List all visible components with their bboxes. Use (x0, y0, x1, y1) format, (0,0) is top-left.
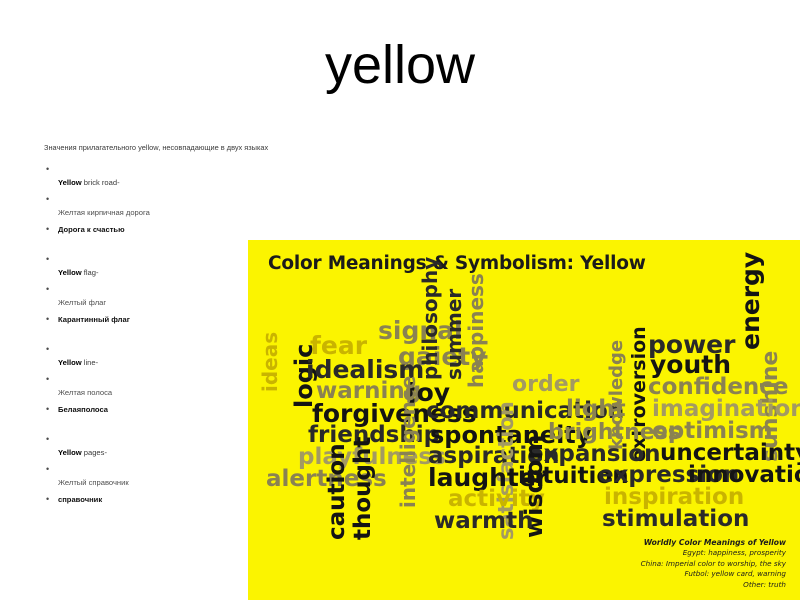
bullet-dot-icon: • (44, 314, 58, 325)
bullet-dot-icon: • (44, 464, 58, 475)
bullet-label: Желтая полоса (58, 374, 259, 398)
bullet-keyword: Yellow (58, 358, 82, 367)
bullet-item: •справочник (44, 494, 259, 524)
bullet-label: Белаяполоса (58, 404, 259, 415)
bullet-item: •Желтая полоса (44, 374, 259, 404)
bullet-label: Желтая кирпичная дорога (58, 194, 259, 218)
wordcloud-word: stimulation (602, 508, 749, 531)
wordcloud-word: summer (444, 289, 464, 380)
bullet-keyword: Yellow (58, 448, 82, 457)
bullet-dot-icon: • (44, 374, 58, 385)
wordcloud-word: energy (738, 252, 763, 350)
bullet-dot-icon: • (44, 284, 58, 295)
bullet-dot-icon: • (44, 344, 58, 355)
bullet-item: •Желтый флаг (44, 284, 259, 314)
bullet-label: Желтый справочник (58, 464, 259, 488)
bullet-keyword: Yellow (58, 268, 82, 277)
wordcloud-word: warmth (434, 510, 533, 533)
wordcloud-image: Color Meanings & Symbolism: Yellow ideas… (248, 240, 800, 600)
bullet-label: справочник (58, 494, 259, 505)
footer-line: Other: truth (641, 580, 786, 590)
wordcloud-word: ideas (260, 332, 280, 392)
bullet-item: •Дорога к счастью (44, 224, 259, 254)
bullet-item: •Yellow line- (44, 344, 259, 374)
bullet-dot-icon: • (44, 224, 58, 235)
bullet-dot-icon: • (44, 404, 58, 415)
bullet-label: Карантинный флаг (58, 314, 259, 325)
wordcloud-footer: Worldly Color Meanings of Yellow Egypt: … (641, 537, 786, 590)
bullet-label: Желтый флаг (58, 284, 259, 308)
bullet-dot-icon: • (44, 164, 58, 175)
footer-lines: Egypt: happiness, prosperityChina: Imper… (641, 548, 786, 590)
bullet-label: Yellow brick road- (58, 164, 259, 188)
footer-heading: Worldly Color Meanings of Yellow (641, 537, 786, 548)
intro-paragraph: Значения прилагательного yellow, несовпа… (44, 143, 259, 153)
footer-line: China: Imperial color to worship, the sk… (641, 559, 786, 569)
bullet-item: •Yellow brick road- (44, 164, 259, 194)
bullet-item: •Белаяполоса (44, 404, 259, 434)
bullet-item: •Желтая кирпичная дорога (44, 194, 259, 224)
bullet-item: •Yellow flag- (44, 254, 259, 284)
bullet-dot-icon: • (44, 494, 58, 505)
bullet-dot-icon: • (44, 194, 58, 205)
footer-line: Futbol: yellow card, warning (641, 569, 786, 579)
bullet-list: •Yellow brick road-•Желтая кирпичная дор… (44, 164, 259, 524)
bullet-keyword: Yellow (58, 178, 82, 187)
footer-line: Egypt: happiness, prosperity (641, 548, 786, 558)
page-title: yellow (0, 38, 800, 92)
bullet-item: •Желтый справочник (44, 464, 259, 494)
wordcloud-word: order (512, 374, 579, 396)
bullet-label: Дорога к счастью (58, 224, 259, 235)
bullet-item: •Карантинный флаг (44, 314, 259, 344)
bullet-dot-icon: • (44, 434, 58, 445)
bullet-item: •Yellow pages- (44, 434, 259, 464)
bullet-label: Yellow pages- (58, 434, 259, 458)
wordcloud-word: thought (352, 437, 375, 540)
bullet-label: Yellow flag- (58, 254, 259, 278)
bullet-dot-icon: • (44, 254, 58, 265)
wordcloud-word: intelligence (398, 376, 418, 508)
wordcloud-word: happiness (466, 273, 486, 388)
wordcloud-word: philosophy (420, 257, 440, 380)
wordcloud-word: caution (326, 443, 349, 540)
bullet-label: Yellow line- (58, 344, 259, 368)
bullet-text-column: Значения прилагательного yellow, несовпа… (44, 143, 259, 524)
